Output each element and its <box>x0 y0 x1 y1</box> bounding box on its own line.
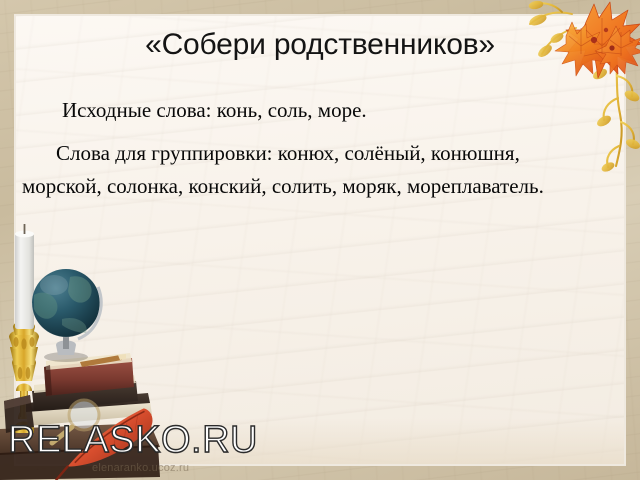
paragraph-source-words: Исходные слова: конь, соль, море. <box>22 94 588 127</box>
slide-page-background <box>16 16 624 464</box>
slide-body-text: Исходные слова: конь, соль, море. Слова … <box>22 94 588 213</box>
watermark-source-site: elenaranko.ucoz.ru <box>92 462 189 474</box>
watermark-relasko: RELASKO.RU <box>8 419 258 462</box>
paragraph-grouping-words: Слова для группировки: конюх, солёный, к… <box>22 137 588 203</box>
presentation-slide: «Собери родственников» Исходные слова: к… <box>0 0 640 480</box>
slide-title: «Собери родственников» <box>0 26 640 64</box>
